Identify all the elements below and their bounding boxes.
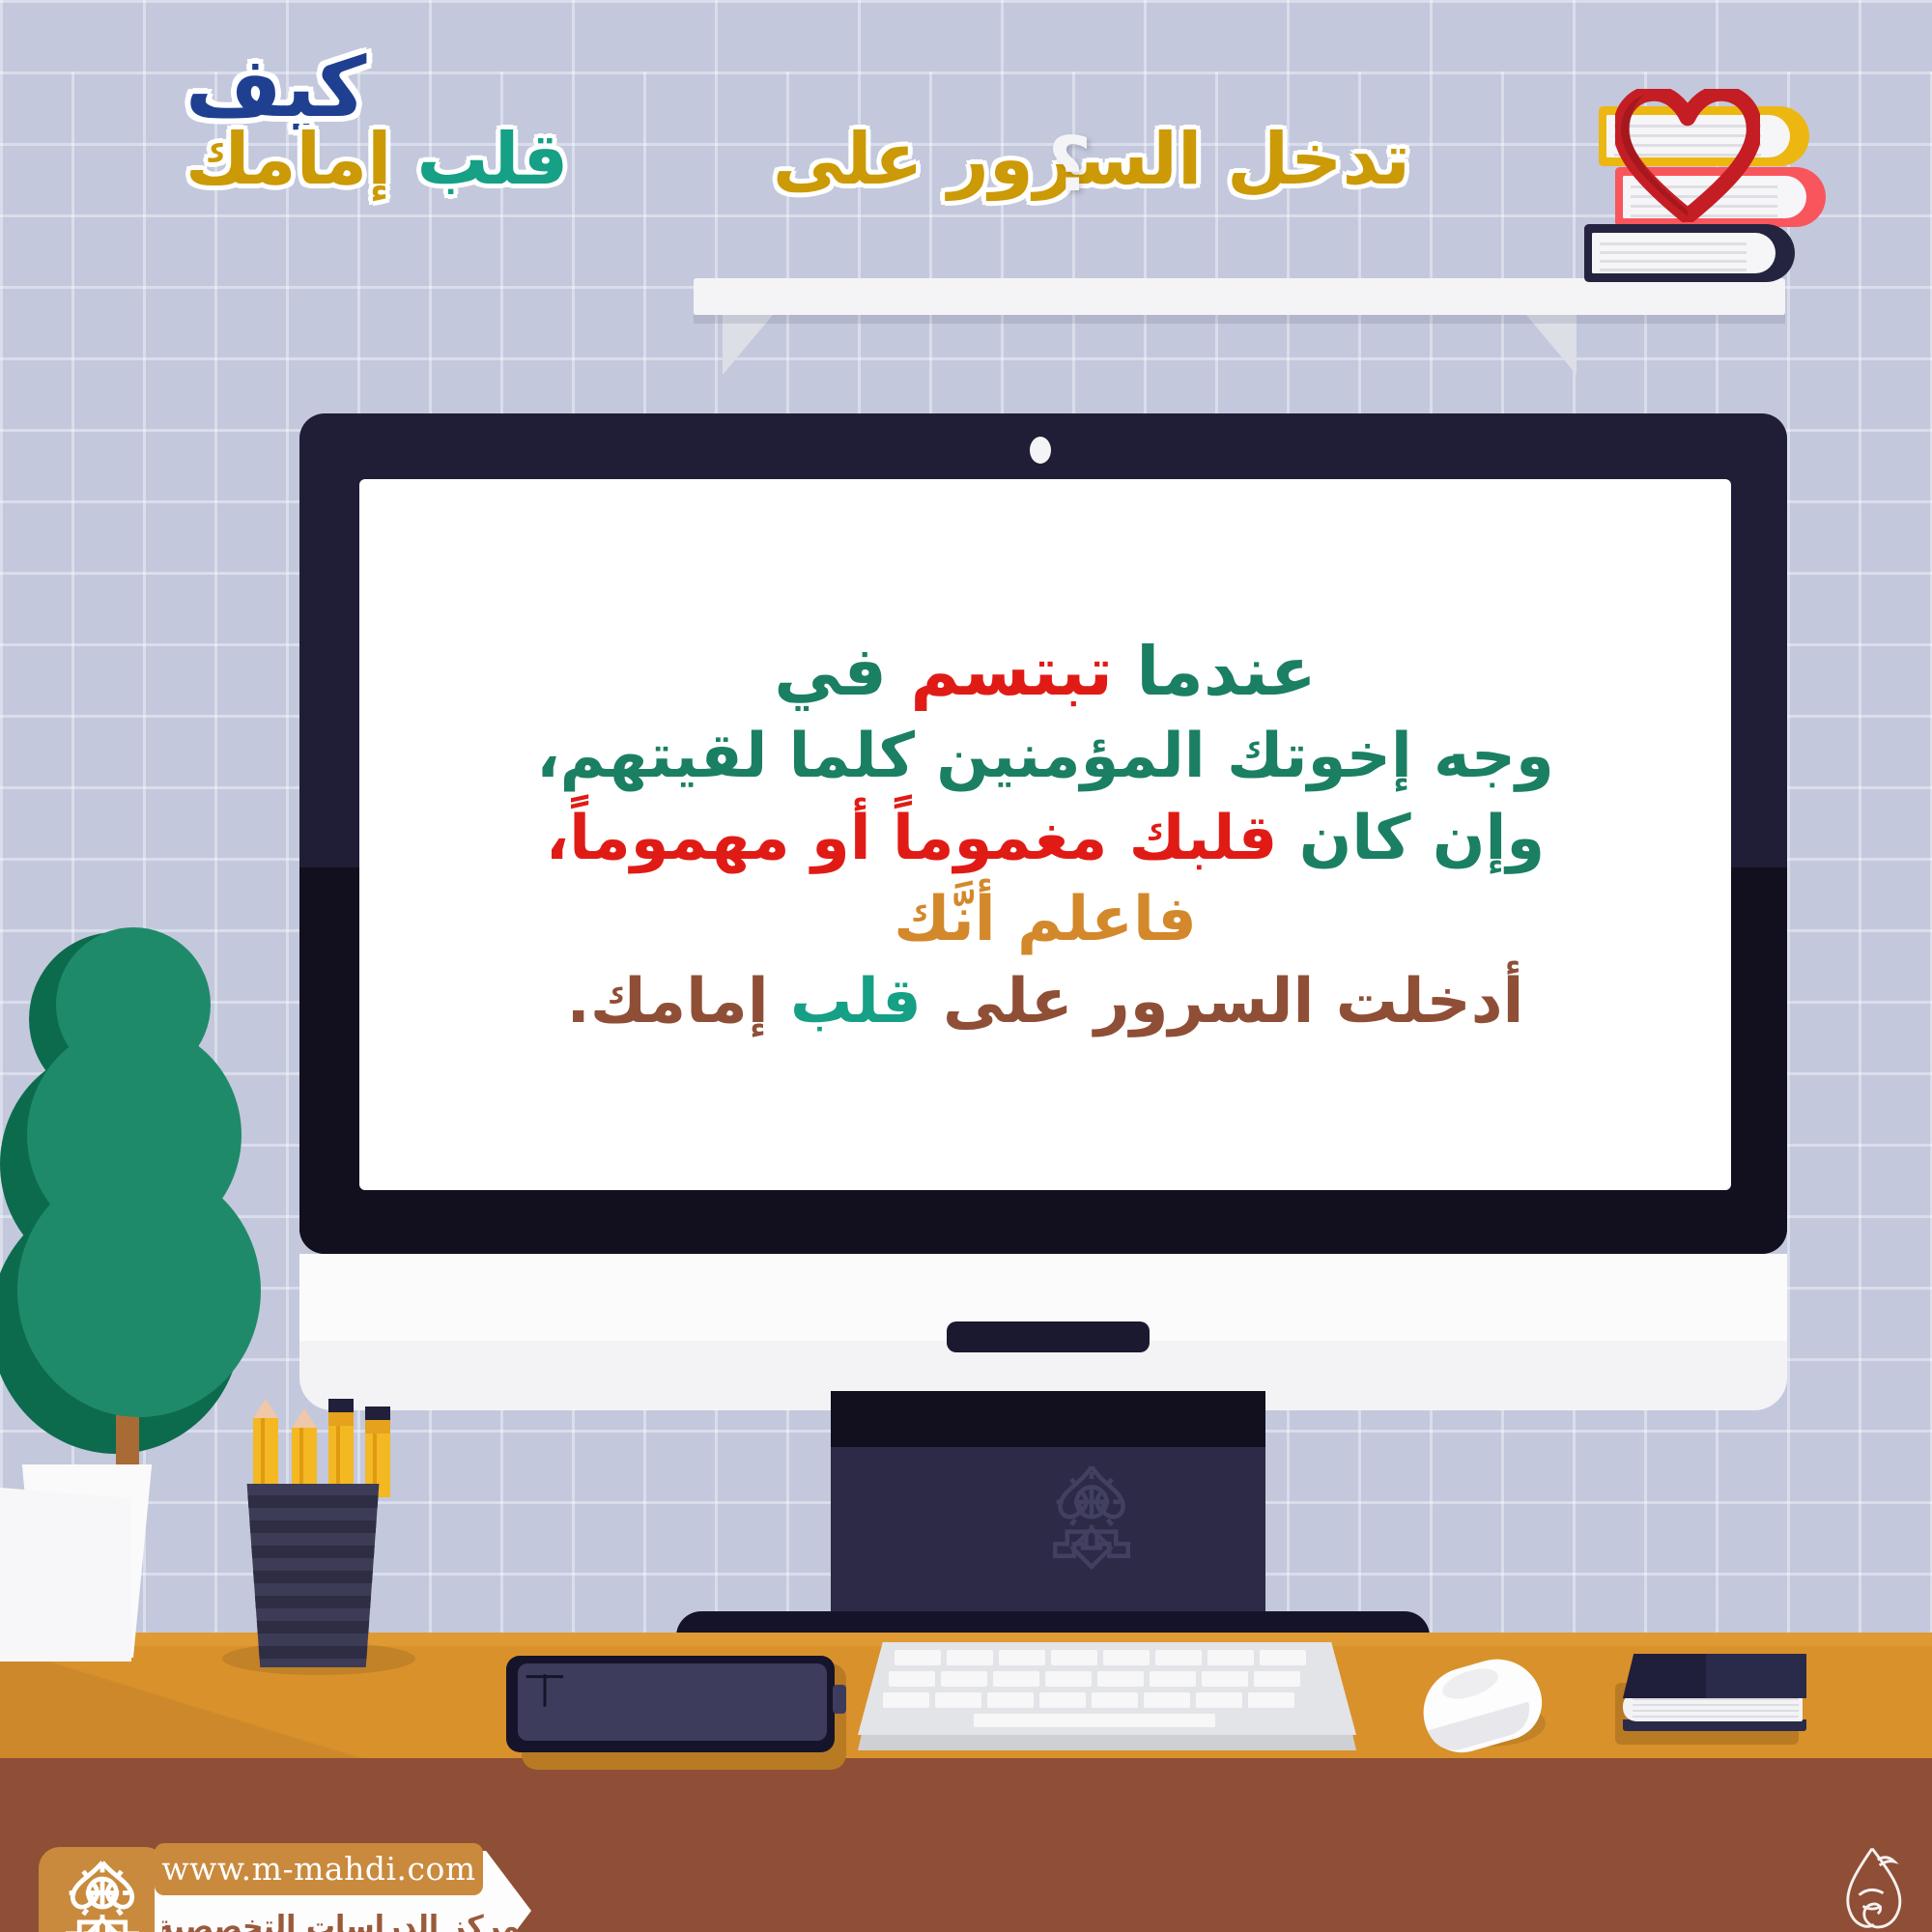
key bbox=[1092, 1692, 1138, 1708]
shelf-bracket-left bbox=[723, 315, 773, 375]
mosque-globe-logo-icon bbox=[1024, 1459, 1159, 1594]
key bbox=[1207, 1650, 1254, 1665]
poster-canvas: كيف تدخل السرور على قلب إمامك ؟ عندما تب… bbox=[0, 0, 1932, 1932]
tree-canopy-bottom bbox=[17, 1164, 261, 1417]
calligraphy-mark-icon bbox=[1826, 1841, 1918, 1932]
title-line-2: تدخل السرور على قلب إمامك bbox=[185, 124, 1410, 195]
webcam-dot-icon bbox=[1030, 437, 1051, 464]
shelf-book-navy bbox=[1584, 224, 1795, 282]
key bbox=[987, 1692, 1034, 1708]
key bbox=[1051, 1650, 1097, 1665]
quote-l1-s3: في bbox=[774, 632, 887, 711]
key bbox=[1039, 1692, 1086, 1708]
key bbox=[1248, 1692, 1294, 1708]
monitor-brand-bar bbox=[947, 1321, 1150, 1352]
key bbox=[999, 1650, 1045, 1665]
quote-l5-s1: أدخلت السرور على bbox=[922, 966, 1524, 1037]
heart-icon bbox=[1615, 89, 1760, 222]
poster-title: كيف تدخل السرور على قلب إمامك bbox=[185, 46, 1410, 195]
key bbox=[1150, 1671, 1196, 1687]
key bbox=[1260, 1650, 1306, 1665]
footer-organization-name: مركز الدراسات التخصصية في الإمام المهدي bbox=[162, 1899, 520, 1932]
footer-url[interactable]: www.m-mahdi.com bbox=[155, 1847, 483, 1891]
key bbox=[1103, 1650, 1150, 1665]
key bbox=[1097, 1671, 1144, 1687]
quote-l3-s2: قلبك مغموماً أو مهموماً، bbox=[546, 803, 1278, 874]
title-line-2-part2: قلب bbox=[416, 118, 568, 201]
key bbox=[993, 1671, 1039, 1687]
monitor-screen: عندما تبتسم في وجه إخوتك المؤمنين كلما ل… bbox=[359, 479, 1731, 1190]
key bbox=[1045, 1671, 1092, 1687]
key bbox=[1144, 1692, 1190, 1708]
title-line-2-part3: إمامك bbox=[185, 118, 392, 201]
shelf-bracket-right bbox=[1526, 315, 1577, 375]
desk-front-edge bbox=[0, 1758, 1932, 1828]
footer-logo-badge bbox=[39, 1847, 166, 1932]
key bbox=[935, 1692, 981, 1708]
tablet-side-button[interactable] bbox=[833, 1685, 846, 1714]
quote-l1-s2: تبتسم bbox=[887, 632, 1113, 711]
quote-l3-s1: وإن كان bbox=[1277, 803, 1545, 874]
pencil-cup bbox=[240, 1484, 386, 1667]
key bbox=[1155, 1650, 1202, 1665]
quote-line-4: فاعلم أنَّك bbox=[894, 879, 1197, 960]
key bbox=[947, 1650, 993, 1665]
key bbox=[889, 1671, 935, 1687]
quote-l2-s1: وجه إخوتك المؤمنين كلما لقيتهم، bbox=[536, 721, 1554, 792]
key bbox=[1254, 1671, 1300, 1687]
key bbox=[941, 1671, 987, 1687]
paper-sheet bbox=[0, 1488, 131, 1662]
keyboard-surface[interactable] bbox=[858, 1642, 1356, 1735]
key bbox=[895, 1650, 941, 1665]
shelf-shadow bbox=[694, 315, 1785, 324]
monitor-stand-neck-top bbox=[831, 1391, 1265, 1447]
quote-l5-s3: إمامك. bbox=[567, 966, 769, 1037]
quote-line-3: وإن كان قلبك مغموماً أو مهموماً، bbox=[546, 798, 1545, 879]
key-spacebar bbox=[974, 1714, 1215, 1727]
screen-quote-block: عندما تبتسم في وجه إخوتك المؤمنين كلما ل… bbox=[359, 479, 1731, 1190]
quote-line-5: أدخلت السرور على قلب إمامك. bbox=[567, 961, 1524, 1042]
title-question-mark: ؟ bbox=[1048, 122, 1092, 209]
quote-line-1: عندما تبتسم في bbox=[774, 627, 1316, 716]
quote-l1-s1: عندما bbox=[1113, 632, 1317, 711]
desk-book-spine bbox=[1623, 1654, 1706, 1698]
mosque-globe-logo-icon bbox=[39, 1847, 166, 1932]
quote-l4-s1: فاعلم أنَّك bbox=[894, 884, 1197, 955]
key bbox=[1196, 1692, 1242, 1708]
tablet-window-icon bbox=[522, 1667, 568, 1714]
wall-shelf bbox=[694, 278, 1785, 315]
key bbox=[883, 1692, 929, 1708]
quote-l5-s2: قلب bbox=[769, 966, 922, 1037]
quote-line-2: وجه إخوتك المؤمنين كلما لقيتهم، bbox=[536, 716, 1554, 797]
key bbox=[1202, 1671, 1248, 1687]
